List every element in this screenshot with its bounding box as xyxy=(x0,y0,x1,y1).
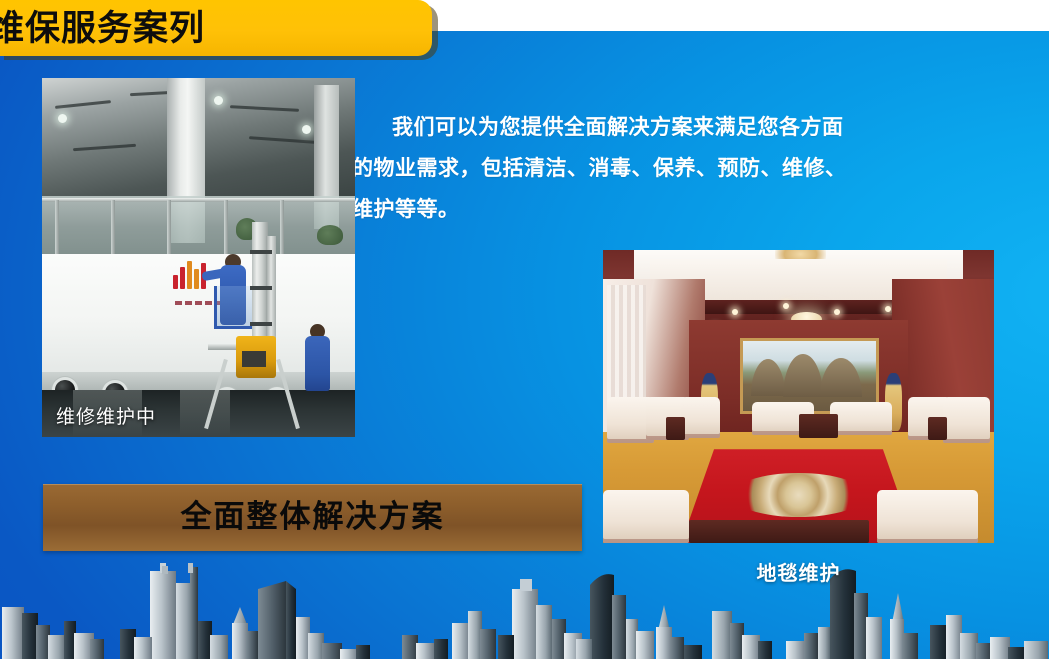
title-plaque: 维保服务案列 xyxy=(0,0,432,56)
photo2-sofa xyxy=(681,397,720,438)
photo2-spotlight xyxy=(834,309,840,315)
photo1-rail-post xyxy=(111,200,115,257)
photo1-rail-post xyxy=(224,200,228,257)
photo2-sofa xyxy=(943,397,990,444)
photo2-sofa xyxy=(830,402,893,434)
body-paragraph: 我们可以为您提供全面解决方案来满足您各方面的物业需求，包括清洁、消毒、保养、预防… xyxy=(352,107,852,230)
photo1-rail-post xyxy=(167,200,171,257)
photo1-machine-panel xyxy=(242,351,266,367)
photo1-glass-balustrade xyxy=(42,196,355,257)
photo1-mast-rung xyxy=(250,322,272,326)
photo2-foreground-sofa xyxy=(877,490,979,543)
photo1-ceiling-light xyxy=(302,125,311,134)
photo2-side-table xyxy=(928,417,948,440)
photo2-side-table xyxy=(799,414,838,437)
photo2-spotlight xyxy=(732,309,738,315)
lift-maintenance-photo: 维修维护中 xyxy=(42,78,355,437)
photo2-carpet-medallion xyxy=(732,473,865,517)
photo1-caption: 维修维护中 xyxy=(56,402,156,429)
photo1-plant xyxy=(317,225,343,245)
photo1-worker2-body xyxy=(305,336,330,391)
carpet-reception-photo xyxy=(603,250,994,543)
photo1-rail-post xyxy=(55,200,59,257)
photo1-ceiling-light xyxy=(214,96,223,105)
photo2-spotlight xyxy=(783,303,789,309)
photo2-foreground-table xyxy=(689,520,869,543)
photo1-mast-rung xyxy=(250,286,272,290)
photo1-rail-post xyxy=(280,200,284,257)
photo2-side-table xyxy=(666,417,686,440)
photo2-spotlight xyxy=(885,306,891,312)
photo1-mast-rung xyxy=(250,250,272,254)
solution-banner: 全面整体解决方案 xyxy=(43,484,582,551)
photo1-handrail xyxy=(42,198,355,202)
photo2-foreground-sofa xyxy=(603,490,689,543)
slide-root: 维保服务案列 我们可以为您提供全面解决方案来满足您各方面的物业需求，包括清洁、消… xyxy=(0,0,1049,659)
photo1-ceiling-light xyxy=(58,114,67,123)
photo2-caption: 地毯维护 xyxy=(603,557,994,586)
solution-banner-label: 全面整体解决方案 xyxy=(181,502,445,533)
page-title: 维保服务案列 xyxy=(0,11,205,46)
photo1-floor-reflection xyxy=(180,390,230,437)
